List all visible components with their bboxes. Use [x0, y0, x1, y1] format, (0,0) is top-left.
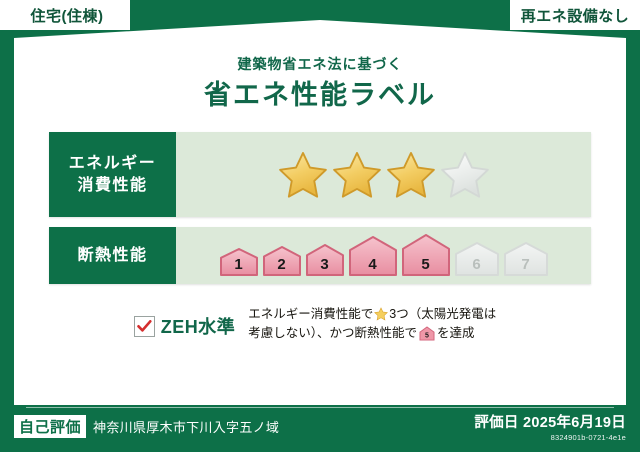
star-rating — [277, 150, 491, 200]
house-icon-filled — [401, 233, 451, 277]
star-icon-filled — [331, 150, 383, 200]
self-evaluation-badge: 自己評価 — [14, 415, 86, 438]
star-icon-empty — [439, 150, 491, 200]
house-icon-filled — [348, 235, 398, 277]
energy-rating-value — [176, 132, 591, 217]
zeh-desc-star-suffix: 3つ（太陽光発電 — [389, 307, 483, 321]
zeh-mark: ZEH水準 — [134, 313, 236, 339]
zeh-checkbox[interactable] — [134, 316, 155, 337]
star-icon-inline — [374, 307, 388, 321]
zeh-standard-block: ZEH水準 エネルギー消費性能で3つ（太陽光発電は考慮しない）、かつ断熱性能で5… — [14, 305, 626, 348]
property-address: 神奈川県厚木市下川入字五ノ域 — [93, 417, 279, 436]
insulation-performance-row: 断熱性能 1234567 — [49, 227, 591, 284]
house-grade-5: 5 — [401, 233, 451, 277]
house-grade-1: 1 — [219, 247, 259, 277]
building-type-tab: 住宅(住棟) — [0, 0, 130, 30]
footer-right-group: 評価日 2025年6月19日 8324901b-0721-4e1e — [474, 411, 626, 442]
zeh-description: エネルギー消費性能で3つ（太陽光発電は考慮しない）、かつ断熱性能で5を達成 — [248, 305, 506, 348]
house-grade-6: 6 — [454, 241, 500, 277]
energy-performance-label: 住宅(住棟) 再エネ設備なし 建築物省エネ法に基づく 省エネ性能ラベル エネルギ… — [0, 0, 640, 452]
heading-subtitle: 建築物省エネ法に基づく — [14, 54, 626, 74]
star-icon-filled — [385, 150, 437, 200]
house-icon-inline: 5 — [419, 330, 435, 344]
check-icon — [137, 320, 152, 333]
zeh-desc-part1: エネルギー消費性能で — [248, 307, 373, 321]
label-sheet: 建築物省エネ法に基づく 省エネ性能ラベル エネルギー 消費性能 断熱性能 123… — [14, 20, 626, 405]
house-icon-filled — [305, 243, 345, 277]
insulation-rating-value: 1234567 — [176, 227, 591, 284]
energy-label-line2: 消費性能 — [77, 175, 147, 197]
house-grade-scale: 1234567 — [219, 233, 549, 279]
footer-left-group: 自己評価 神奈川県厚木市下川入字五ノ域 — [14, 415, 279, 438]
renewable-energy-tab: 再エネ設備なし — [510, 0, 640, 30]
house-icon-empty — [454, 241, 500, 277]
document-id: 8324901b-0721-4e1e — [474, 433, 626, 442]
zeh-desc-part3: を達成 — [437, 326, 475, 340]
house-grade-2: 2 — [262, 245, 302, 277]
house-icon-filled — [219, 247, 259, 277]
insulation-performance-label-box: 断熱性能 — [49, 227, 176, 284]
energy-performance-row: エネルギー 消費性能 — [49, 132, 591, 217]
label-footer: 自己評価 神奈川県厚木市下川入字五ノ域 評価日 2025年6月19日 83249… — [14, 408, 626, 444]
house-grade-3: 3 — [305, 243, 345, 277]
energy-performance-label-box: エネルギー 消費性能 — [49, 132, 176, 217]
house-grade-7: 7 — [503, 241, 549, 277]
house-icon-empty — [503, 241, 549, 277]
evaluation-date: 評価日 2025年6月19日 — [474, 411, 626, 432]
zeh-label: ZEH水準 — [161, 313, 236, 339]
house-grade-4: 4 — [348, 235, 398, 277]
house-icon-filled — [262, 245, 302, 277]
insulation-label-text: 断熱性能 — [77, 245, 147, 267]
svg-text:5: 5 — [425, 333, 429, 340]
star-icon-filled — [277, 150, 329, 200]
energy-label-line1: エネルギー — [69, 153, 157, 175]
heading-title: 省エネ性能ラベル — [14, 73, 626, 112]
